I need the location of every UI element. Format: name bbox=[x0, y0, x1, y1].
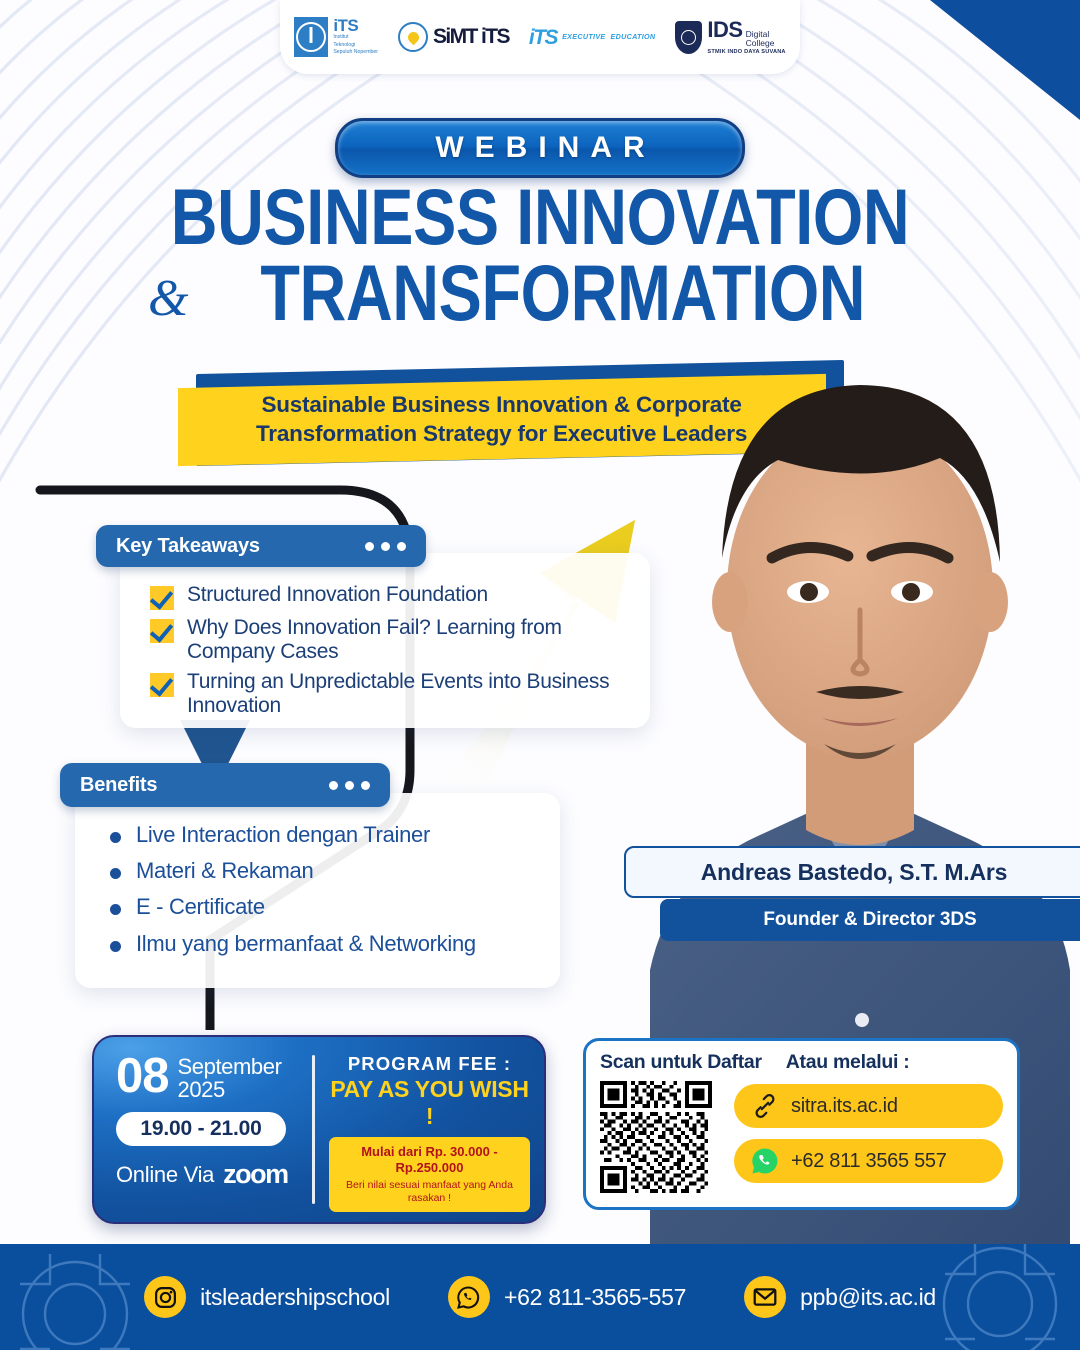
whatsapp-icon bbox=[750, 1146, 780, 1176]
event-platform: Online Via zoom bbox=[116, 1159, 312, 1190]
list-item: Why Does Innovation Fail? Learning from … bbox=[150, 616, 640, 664]
event-platform-prefix: Online Via bbox=[116, 1162, 214, 1188]
list-item: E - Certificate bbox=[110, 895, 580, 919]
ids-digital-college-logo: IDS Digital College STMIK INDO DAYA SUVA… bbox=[675, 19, 785, 56]
zoom-logo: zoom bbox=[223, 1159, 288, 1190]
email-icon bbox=[744, 1276, 786, 1318]
simt-its-logo: SiMT iTS bbox=[398, 22, 509, 52]
benefits-tab: Benefits bbox=[60, 763, 390, 807]
website-button[interactable]: sitra.its.ac.id bbox=[734, 1084, 1003, 1128]
list-item: Ilmu yang bermanfaat & Networking bbox=[110, 932, 580, 956]
footer-instagram[interactable]: itsleadershipschool bbox=[144, 1276, 390, 1318]
corner-accent-triangle bbox=[890, 0, 1080, 150]
partner-logo-bar: iTS Institut Teknologi Sepuluh Nopember … bbox=[280, 0, 800, 74]
bullet-icon bbox=[110, 904, 121, 915]
footer-email[interactable]: ppb@its.ac.id bbox=[744, 1276, 936, 1318]
qr-code[interactable] bbox=[600, 1081, 712, 1193]
title-line-1: BUSINESS INNOVATION bbox=[97, 180, 983, 254]
footer-contact-bar: itsleadershipschool +62 811-3565-557 ppb… bbox=[0, 1244, 1080, 1350]
ids-abbr: IDS bbox=[707, 19, 742, 41]
list-item: Live Interaction dengan Trainer bbox=[110, 823, 580, 847]
benefit-text: Ilmu yang bermanfaat & Networking bbox=[136, 932, 476, 956]
checkmark-icon bbox=[150, 619, 174, 643]
instagram-icon bbox=[144, 1276, 186, 1318]
website-url: sitra.its.ac.id bbox=[791, 1095, 898, 1118]
its-logo-line2: Teknologi bbox=[333, 42, 378, 50]
itsee-line1: EXECUTIVE bbox=[562, 33, 605, 40]
its-logo-line3: Sepuluh Nopember bbox=[333, 49, 378, 57]
ids-shield-icon bbox=[675, 21, 702, 54]
page-title: BUSINESS INNOVATION & TRANSFORMATION bbox=[0, 180, 1080, 331]
webinar-badge: WEBINAR bbox=[335, 118, 745, 178]
title-line-2: TRANSFORMATION bbox=[261, 256, 866, 330]
title-ampersand: & bbox=[148, 273, 188, 325]
speaker-name: Andreas Bastedo, S.T. M.Ars bbox=[701, 859, 1007, 886]
footer-email-address: ppb@its.ac.id bbox=[800, 1284, 936, 1311]
registration-panel: Scan untuk Daftar Atau melalui : bbox=[583, 1038, 1020, 1210]
speaker-role-banner: Founder & Director 3DS bbox=[660, 899, 1080, 941]
key-takeaways-tab-label: Key Takeaways bbox=[116, 535, 260, 558]
benefit-text: E - Certificate bbox=[136, 895, 265, 919]
simt-logo-abbr: SiMT iTS bbox=[433, 25, 509, 49]
webinar-poster: iTS Institut Teknologi Sepuluh Nopember … bbox=[0, 0, 1080, 1350]
fee-range: Mulai dari Rp. 30.000 - Rp.250.000 bbox=[335, 1144, 524, 1175]
link-icon bbox=[750, 1091, 780, 1121]
event-time-chip: 19.00 - 21.00 bbox=[116, 1112, 286, 1146]
key-takeaway-text: Why Does Innovation Fail? Learning from … bbox=[187, 616, 640, 664]
its-logo: iTS Institut Teknologi Sepuluh Nopember bbox=[294, 17, 378, 57]
or-label: Atau melalui : bbox=[786, 1051, 910, 1074]
its-logo-abbr: iTS bbox=[333, 17, 378, 34]
footer-instagram-handle: itsleadershipschool bbox=[200, 1284, 390, 1311]
event-time: 19.00 - 21.00 bbox=[140, 1117, 261, 1141]
speaker-name-banner: Andreas Bastedo, S.T. M.Ars bbox=[624, 846, 1080, 898]
key-takeaway-text: Turning an Unpredictable Events into Bus… bbox=[187, 670, 640, 718]
ellipsis-icon bbox=[365, 542, 406, 551]
key-takeaways-tab: Key Takeaways bbox=[96, 525, 426, 567]
key-takeaway-text: Structured Innovation Foundation bbox=[187, 583, 488, 607]
whatsapp-icon bbox=[448, 1276, 490, 1318]
its-emblem-icon bbox=[294, 17, 328, 57]
its-logo-line1: Institut bbox=[333, 34, 378, 42]
list-item: Materi & Rekaman bbox=[110, 859, 580, 883]
ids-word2: College bbox=[746, 39, 775, 49]
speaker-role: Founder & Director 3DS bbox=[763, 909, 976, 931]
footer-whatsapp-number: +62 811-3565-557 bbox=[504, 1284, 686, 1311]
webinar-badge-label: WEBINAR bbox=[424, 131, 655, 165]
event-month: September bbox=[178, 1055, 282, 1078]
checkmark-icon bbox=[150, 673, 174, 697]
whatsapp-button[interactable]: +62 811 3565 557 bbox=[734, 1139, 1003, 1183]
event-year: 2025 bbox=[178, 1078, 282, 1101]
list-item: Structured Innovation Foundation bbox=[150, 583, 640, 610]
event-day: 08 bbox=[116, 1055, 169, 1098]
ellipsis-icon bbox=[329, 781, 370, 790]
benefit-text: Materi & Rekaman bbox=[136, 859, 313, 883]
program-fee-value: PAY AS YOU WISH ! bbox=[329, 1076, 530, 1130]
benefit-text: Live Interaction dengan Trainer bbox=[136, 823, 430, 847]
bullet-icon bbox=[110, 868, 121, 879]
itsee-abbr: iTS bbox=[529, 27, 557, 48]
scan-label: Scan untuk Daftar bbox=[600, 1051, 762, 1074]
list-item: Turning an Unpredictable Events into Bus… bbox=[150, 670, 640, 718]
event-details-panel: 08 September 2025 19.00 - 21.00 Online V… bbox=[92, 1035, 546, 1224]
fee-details-box: Mulai dari Rp. 30.000 - Rp.250.000 Beri … bbox=[329, 1137, 530, 1212]
bullet-icon bbox=[110, 832, 121, 843]
simt-emblem-icon bbox=[398, 22, 428, 52]
whatsapp-number: +62 811 3565 557 bbox=[791, 1150, 947, 1173]
benefits-list: Live Interaction dengan Trainer Materi &… bbox=[110, 823, 580, 968]
bullet-icon bbox=[110, 941, 121, 952]
itsee-line2: EDUCATION bbox=[611, 33, 656, 40]
program-fee-label: PROGRAM FEE : bbox=[329, 1053, 530, 1075]
key-takeaways-list: Structured Innovation Foundation Why Doe… bbox=[150, 583, 640, 724]
ids-tagline: STMIK INDO DAYA SUVANA bbox=[707, 50, 785, 56]
its-executive-education-logo: iTS EXECUTIVE EDUCATION bbox=[529, 27, 656, 48]
footer-whatsapp[interactable]: +62 811-3565-557 bbox=[448, 1276, 686, 1318]
fee-note: Beri nilai sesuai manfaat yang Anda rasa… bbox=[335, 1179, 524, 1205]
benefits-tab-label: Benefits bbox=[80, 774, 157, 797]
checkmark-icon bbox=[150, 586, 174, 610]
